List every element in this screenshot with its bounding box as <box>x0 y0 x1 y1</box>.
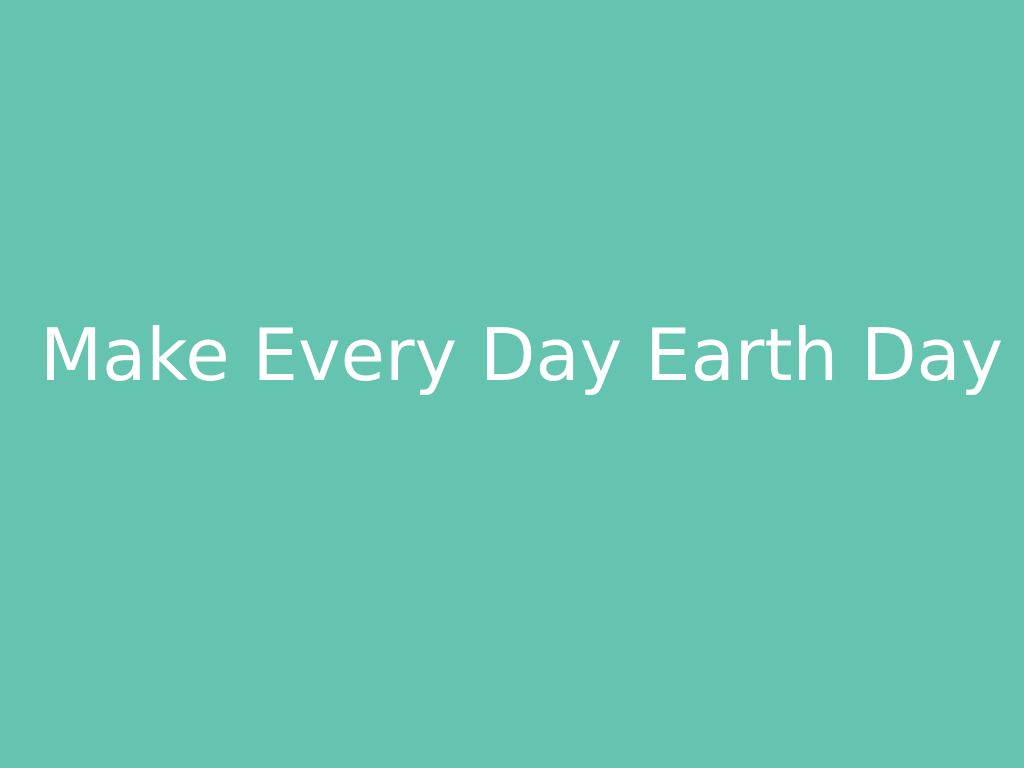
slide-headline: Make Every Day Earth Day <box>40 317 984 395</box>
slide-canvas: Make Every Day Earth Day <box>0 0 1024 768</box>
headline-block: Make Every Day Earth Day <box>0 317 1024 395</box>
